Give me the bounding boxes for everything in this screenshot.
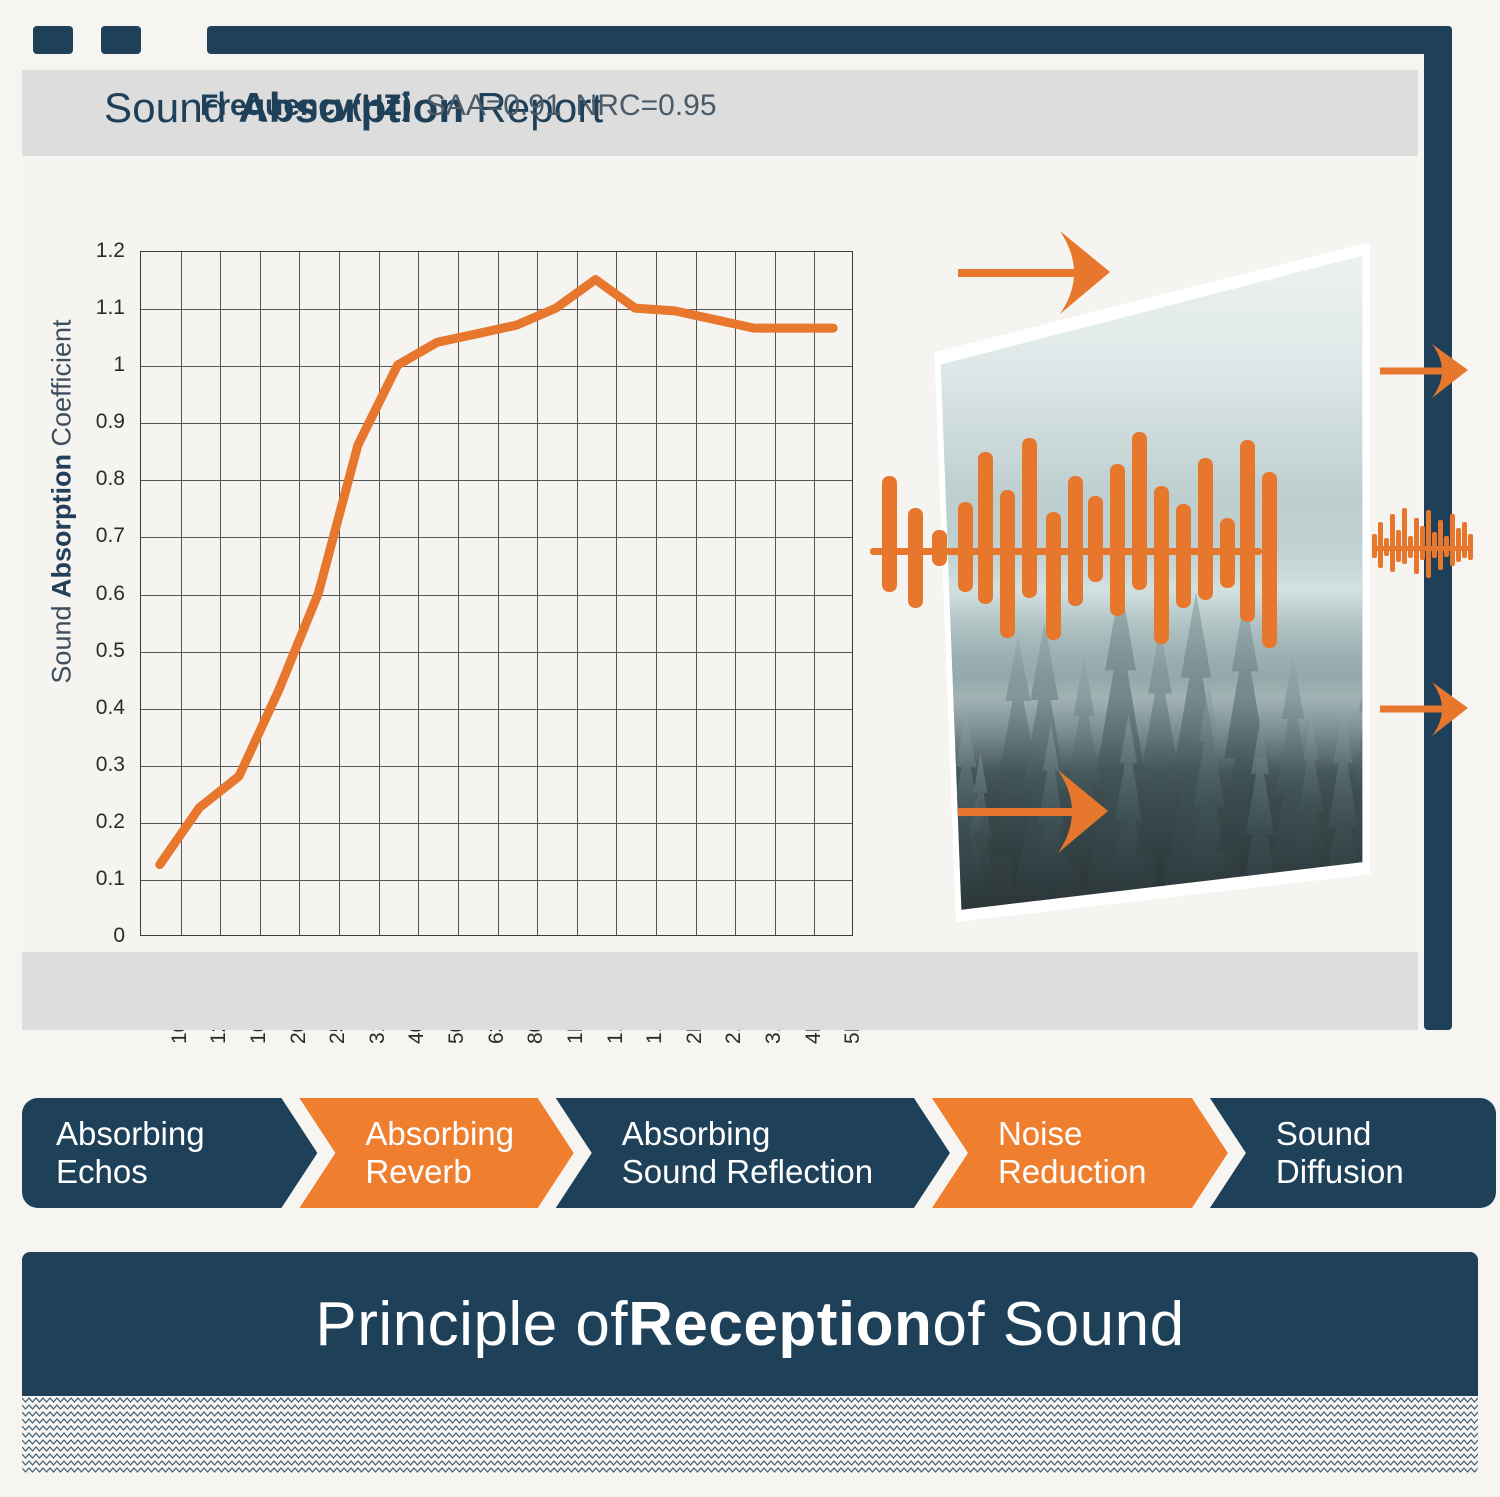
feature-tag-line1: Absorbing xyxy=(56,1115,317,1153)
banner-title: Principle of Reception of Sound xyxy=(22,1252,1478,1396)
chart-plot-area xyxy=(140,156,856,952)
feature-tag[interactable]: AbsorbingReverb xyxy=(299,1098,573,1208)
bottom-banner: Principle of Reception of Sound xyxy=(22,1252,1478,1474)
sound-wave-bar xyxy=(1154,486,1169,644)
sound-wave-bar xyxy=(1176,504,1191,608)
banner-suffix: of Sound xyxy=(932,1289,1184,1360)
sound-wave-bar xyxy=(1000,490,1015,638)
title-square-1-decoration xyxy=(33,26,73,54)
y-axis-tick-label: 0.8 xyxy=(85,467,125,491)
sound-wave-bar xyxy=(908,508,923,608)
y-axis-tick-label: 0.4 xyxy=(85,696,125,720)
feature-tag-line1: Absorbing xyxy=(622,1115,950,1153)
acoustic-panel-illustration xyxy=(860,156,1480,956)
y-label-suffix: Coefficient xyxy=(47,319,77,454)
chart-series-line xyxy=(140,251,853,936)
title-bar-decoration xyxy=(207,26,1452,54)
y-axis-tick-label: 1 xyxy=(85,353,125,377)
chart-y-axis-label: Sound Absorption Coefficient xyxy=(47,292,78,712)
feature-tag-line1: Noise xyxy=(998,1115,1228,1153)
sound-wave-bar xyxy=(1132,432,1147,590)
y-axis-tick-label: 1.2 xyxy=(85,239,125,263)
attenuated-wave-bar xyxy=(1456,528,1461,562)
sound-wave-bar xyxy=(1240,440,1255,622)
title-square-2-decoration xyxy=(101,26,141,54)
y-axis-tick-label: 0.7 xyxy=(85,524,125,548)
wave-out-axis xyxy=(1372,546,1472,551)
y-axis-tick-label: 0.5 xyxy=(85,639,125,663)
attenuated-wave-bar xyxy=(1450,514,1455,566)
feature-tag-line1: Sound xyxy=(1276,1115,1496,1153)
sound-wave-bar xyxy=(882,476,897,592)
arrow-right-lower-icon xyxy=(1380,682,1468,736)
sound-wave-bar xyxy=(1198,458,1213,600)
feature-tag-line2: Echos xyxy=(56,1153,317,1191)
sound-wave-bar xyxy=(1046,512,1061,640)
banner-prefix: Principle of xyxy=(315,1289,628,1360)
y-axis-tick-label: 1.1 xyxy=(85,296,125,320)
y-label-prefix: Sound xyxy=(47,598,77,684)
attenuated-wave-bar xyxy=(1426,510,1431,578)
y-axis-tick-label: 0.2 xyxy=(85,810,125,834)
sound-wave-bar xyxy=(978,452,993,604)
feature-tag-strip: AbsorbingEchosAbsorbingReverbAbsorbingSo… xyxy=(22,1098,1478,1208)
frequency-label: Frequency(HZ) xyxy=(200,89,412,122)
feature-tag[interactable]: AbsorbingEchos xyxy=(22,1098,317,1208)
wave-in-axis xyxy=(870,548,1262,555)
sound-wave-bar xyxy=(1262,472,1277,648)
attenuated-wave-bar xyxy=(1462,522,1467,558)
sound-wave-bar xyxy=(1110,464,1125,616)
report-footer-text: Frequency(HZ)SAA=0.91NRC=0.95 xyxy=(200,89,717,123)
sound-wave-bar xyxy=(1022,438,1037,598)
arrow-top-icon xyxy=(958,231,1110,314)
attenuated-wave-bar xyxy=(1378,522,1383,568)
sound-absorption-report-panel: Sound Absorption Report Sound Absorption… xyxy=(22,70,1418,1030)
chart-y-axis-ticks: 00.10.20.30.40.50.60.70.80.911.11.2 xyxy=(77,156,125,952)
feature-tag[interactable]: SoundDiffusion xyxy=(1210,1098,1496,1208)
attenuated-wave-bar xyxy=(1390,514,1395,572)
attenuated-wave-bar xyxy=(1420,526,1425,560)
feature-tag-line2: Reverb xyxy=(365,1153,573,1191)
attenuated-wave-bar xyxy=(1432,532,1437,558)
zigzag-mesh-pattern xyxy=(22,1396,1478,1474)
saa-value: SAA=0.91 xyxy=(426,89,562,122)
feature-tag[interactable]: NoiseReduction xyxy=(932,1098,1228,1208)
y-axis-tick-label: 0.9 xyxy=(85,410,125,434)
feature-tag-line2: Reduction xyxy=(998,1153,1228,1191)
zigzag-mesh-svg xyxy=(22,1396,1478,1474)
y-axis-tick-label: 0.3 xyxy=(85,753,125,777)
feature-tag-line1: Absorbing xyxy=(365,1115,573,1153)
sound-wave-bar xyxy=(1068,476,1083,606)
attenuated-wave-bar xyxy=(1402,508,1407,564)
feature-tag-line2: Sound Reflection xyxy=(622,1153,950,1191)
absorption-chart: Sound Absorption Coefficient 00.10.20.30… xyxy=(22,156,862,952)
arrow-right-upper-icon xyxy=(1380,344,1468,398)
sound-wave-bar xyxy=(958,502,973,592)
banner-emphasis: Reception xyxy=(628,1289,932,1360)
nrc-value: NRC=0.95 xyxy=(576,89,717,122)
y-axis-tick-label: 0.1 xyxy=(85,867,125,891)
report-footer xyxy=(22,952,1418,1030)
y-label-emphasis: Absorption xyxy=(47,454,77,598)
y-axis-tick-label: 0.6 xyxy=(85,582,125,606)
feature-tag-line2: Diffusion xyxy=(1276,1153,1496,1191)
attenuated-wave-bar xyxy=(1438,520,1443,570)
sound-wave-bar xyxy=(1088,496,1103,582)
y-axis-tick-label: 0 xyxy=(85,924,125,948)
infographic-page: Sound Absorption Report Sound Absorption… xyxy=(0,0,1500,1497)
feature-tag[interactable]: AbsorbingSound Reflection xyxy=(556,1098,950,1208)
